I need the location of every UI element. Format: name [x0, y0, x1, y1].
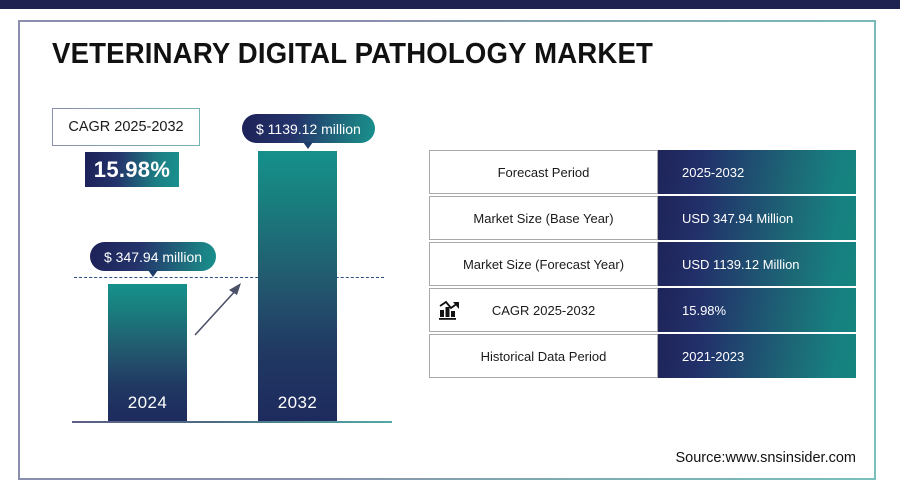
table-row-value-cell: 2021-2023: [658, 334, 856, 378]
growth-arrow-icon: [192, 278, 246, 338]
market-summary-table: Forecast Period 2025-2032 Market Size (B…: [429, 150, 856, 380]
value-callout-2032: $ 1139.12 million: [242, 114, 375, 143]
table-row-value: 15.98%: [682, 303, 726, 318]
table-row: Market Size (Forecast Year) USD 1139.12 …: [429, 242, 856, 286]
bar-2032: 2032: [258, 151, 337, 421]
table-row-value: 2021-2023: [682, 349, 744, 364]
table-row-value: USD 1139.12 Million: [682, 257, 800, 272]
table-row: Historical Data Period 2021-2023: [429, 334, 856, 378]
bar-chart: 2024 2032 $ 347.94 million $ 1139.12 mil…: [72, 108, 392, 426]
table-row-value-cell: 15.98%: [658, 288, 856, 332]
table-row: CAGR 2025-2032 15.98%: [429, 288, 856, 332]
table-row: Market Size (Base Year) USD 347.94 Milli…: [429, 196, 856, 240]
value-callout-2024-text: $ 347.94 million: [104, 249, 202, 265]
infographic-canvas: VETERINARY DIGITAL PATHOLOGY MARKET CAGR…: [0, 0, 900, 500]
bar-chart-icon: [438, 299, 462, 321]
value-callout-2024: $ 347.94 million: [90, 242, 216, 271]
bar-label-2032: 2032: [258, 393, 337, 413]
chart-baseline-axis: [72, 421, 392, 423]
table-row-value-cell: 2025-2032: [658, 150, 856, 194]
source-attribution: Source:www.snsinsider.com: [675, 450, 856, 466]
table-row-value-cell: USD 1139.12 Million: [658, 242, 856, 286]
table-row-label: Forecast Period: [498, 165, 590, 180]
table-row-value-cell: USD 347.94 Million: [658, 196, 856, 240]
table-row-label-cell: Historical Data Period: [429, 334, 658, 378]
table-row-label: Market Size (Base Year): [473, 211, 613, 226]
bar-2024: 2024: [108, 284, 187, 421]
page-title: VETERINARY DIGITAL PATHOLOGY MARKET: [52, 38, 653, 71]
table-row-value: USD 347.94 Million: [682, 211, 793, 226]
bar-label-2024: 2024: [108, 393, 187, 413]
table-row-label-cell: Forecast Period: [429, 150, 658, 194]
table-row-label-cell: Market Size (Base Year): [429, 196, 658, 240]
table-row-label: CAGR 2025-2032: [492, 303, 595, 318]
value-callout-2032-text: $ 1139.12 million: [256, 121, 361, 137]
table-row-label-cell: Market Size (Forecast Year): [429, 242, 658, 286]
top-accent-band: [0, 0, 900, 9]
table-row-label-cell: CAGR 2025-2032: [429, 288, 658, 332]
table-row-label: Market Size (Forecast Year): [463, 257, 624, 272]
table-row-label: Historical Data Period: [481, 349, 607, 364]
table-row: Forecast Period 2025-2032: [429, 150, 856, 194]
table-row-value: 2025-2032: [682, 165, 744, 180]
